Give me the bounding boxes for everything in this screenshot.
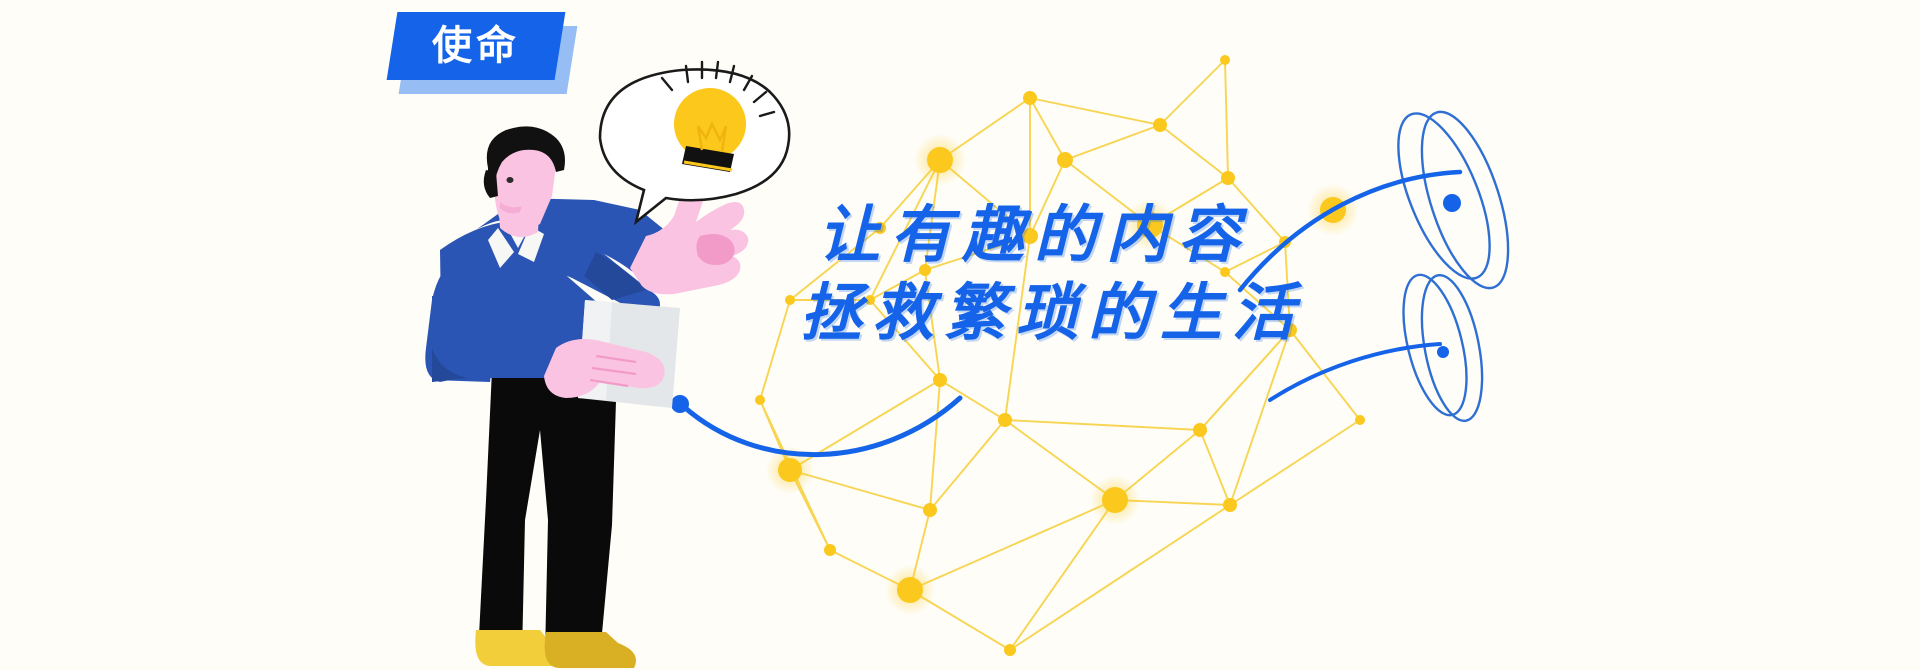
- mission-banner: 使命 让有趣的内容 拯救繁琐的生活: [0, 0, 1920, 670]
- idea-speech-bubble: [0, 0, 1920, 670]
